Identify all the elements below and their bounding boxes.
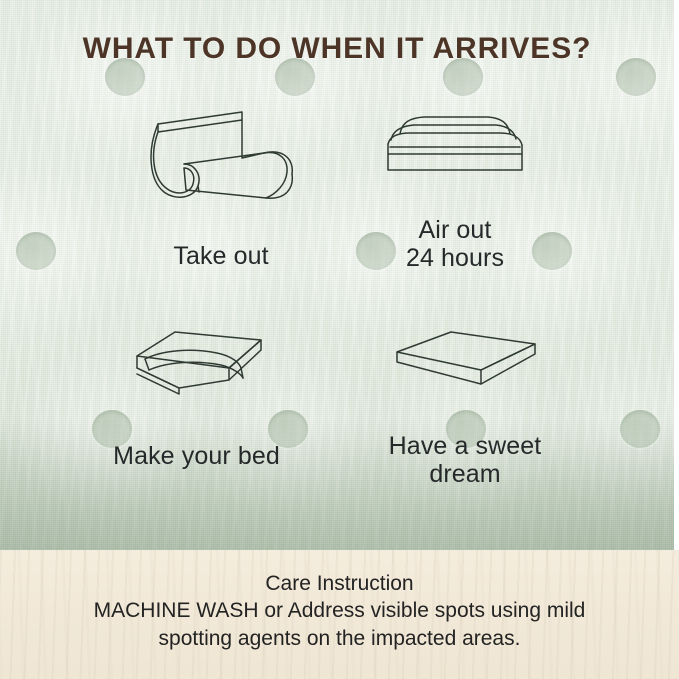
page-title: WHAT TO DO WHEN IT ARRIVES? xyxy=(0,32,674,66)
flat-mattress-front-icon xyxy=(380,106,530,192)
made-bed-icon xyxy=(117,326,277,404)
care-instruction-panel: Care Instruction MACHINE WASH or Address… xyxy=(0,550,679,679)
step-caption: Make your bed xyxy=(64,442,329,470)
care-instruction-title: Care Instruction xyxy=(0,570,679,597)
care-instruction-line2: spotting agents on the impacted areas. xyxy=(0,625,679,652)
step-caption-line2: 24 hours xyxy=(406,244,504,272)
steps-grid: Take out xyxy=(0,96,674,516)
step-caption: Take out xyxy=(96,242,346,270)
step-make-your-bed: Make your bed xyxy=(64,326,329,470)
step-caption: Air out 24 hours xyxy=(330,216,580,272)
step-air-out: Air out 24 hours xyxy=(330,106,580,272)
care-instruction-line1: MACHINE WASH or Address visible spots us… xyxy=(0,597,679,624)
infographic-page: WHAT TO DO WHEN IT ARRIVES? xyxy=(0,0,679,679)
step-caption-line1: Have a sweet xyxy=(389,432,542,460)
mattress-slab-icon xyxy=(385,326,545,400)
rolled-mattress-icon xyxy=(146,106,296,216)
step-caption-line2: dream xyxy=(429,460,500,488)
step-caption-line1: Air out xyxy=(419,216,492,244)
step-caption-line1: Make your bed xyxy=(113,442,280,470)
step-caption: Have a sweet dream xyxy=(330,432,600,488)
right-edge-strip xyxy=(674,0,679,550)
step-take-out: Take out xyxy=(96,106,346,270)
care-instruction-text: Care Instruction MACHINE WASH or Address… xyxy=(0,570,679,652)
step-caption-line1: Take out xyxy=(173,242,268,270)
step-sweet-dream: Have a sweet dream xyxy=(330,326,600,488)
